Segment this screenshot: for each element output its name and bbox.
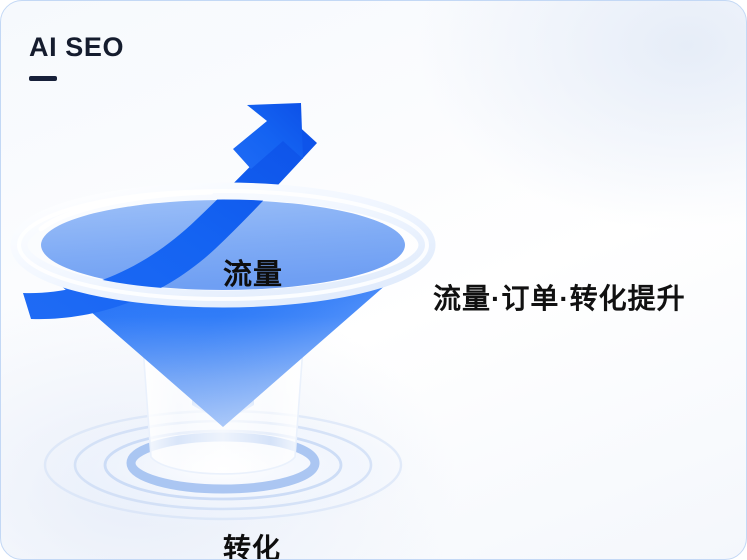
funnel-label-conversion: 转化: [223, 527, 281, 560]
funnel-label-traffic: 流量: [223, 251, 283, 293]
slide-canvas: AI SEO 流量·订单·转化提升: [0, 0, 747, 560]
page-title: AI SEO: [29, 34, 124, 81]
illustration-svg: [1, 97, 441, 527]
page-title-text: AI SEO: [29, 34, 124, 61]
title-underline-rule: [29, 76, 57, 81]
funnel-growth-illustration: 流量 转化: [1, 97, 441, 527]
tagline-text: 流量·订单·转化提升: [433, 277, 686, 317]
